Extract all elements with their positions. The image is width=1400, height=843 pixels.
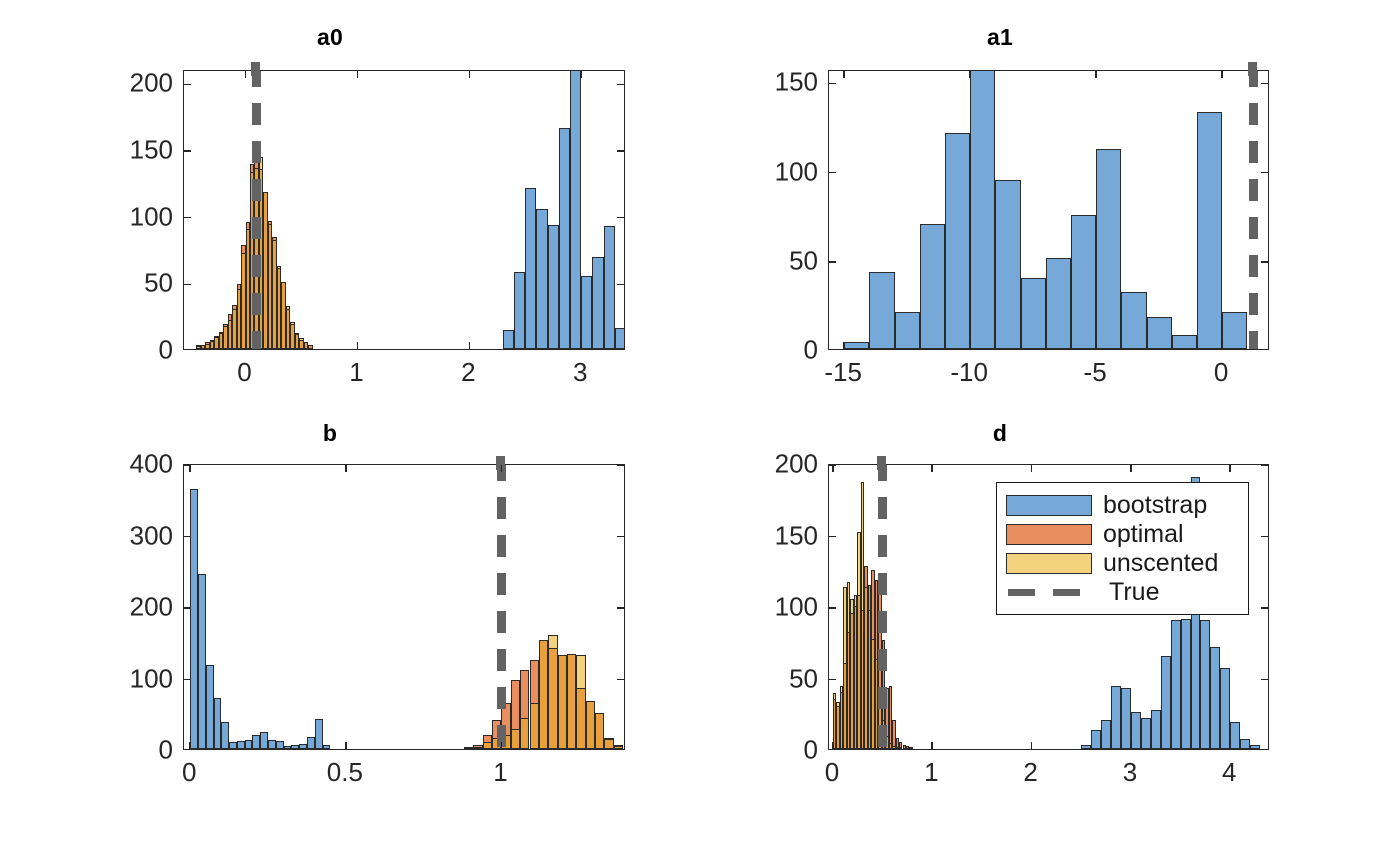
y-tick-mark xyxy=(617,284,624,286)
figure-canvas: a0 0501001502000123 a1 050100150-15-10-5… xyxy=(0,0,1400,843)
y-tick-mark xyxy=(184,150,191,152)
histogram-bar xyxy=(315,719,323,749)
histogram-bar xyxy=(1230,722,1240,749)
y-tick-label: 50 xyxy=(700,245,818,276)
histogram-bar xyxy=(221,722,229,749)
histogram-bar xyxy=(1096,149,1121,349)
x-tick-mark xyxy=(357,71,359,78)
x-tick-mark xyxy=(469,71,471,78)
x-tick-mark xyxy=(245,342,247,349)
y-tick-mark xyxy=(617,679,624,681)
x-tick-mark xyxy=(1229,742,1231,749)
histogram-bar xyxy=(503,330,514,349)
y-tick-mark xyxy=(829,83,836,85)
x-tick-mark xyxy=(1095,342,1097,349)
histogram-bar xyxy=(1141,718,1151,749)
y-tick-mark xyxy=(617,607,624,609)
subplot-b: b 010020030040000.51 xyxy=(0,420,660,800)
x-tick-mark xyxy=(1130,742,1132,749)
histogram-bar xyxy=(299,744,307,749)
histogram-bar xyxy=(1071,215,1096,349)
y-tick-mark xyxy=(184,607,191,609)
legend-label-bootstrap: bootstrap xyxy=(1103,493,1207,518)
y-tick-mark xyxy=(1261,464,1268,466)
histogram-bar-overlap xyxy=(567,654,576,749)
x-tick-label: 2 xyxy=(1023,757,1037,788)
y-tick-label: 300 xyxy=(0,520,173,551)
histogram-bar xyxy=(190,489,198,749)
x-tick-mark xyxy=(931,742,933,749)
x-tick-mark xyxy=(832,465,834,472)
histogram-bar-overlap xyxy=(548,648,557,749)
legend-label-optimal: optimal xyxy=(1103,522,1184,547)
legend-swatch-bootstrap xyxy=(1006,495,1092,516)
legend-item-true[interactable]: True xyxy=(1006,579,1238,606)
histogram-bar xyxy=(559,128,570,349)
x-tick-label: -10 xyxy=(950,357,988,388)
histogram-bar xyxy=(1121,292,1146,349)
y-tick-mark xyxy=(617,217,624,219)
histogram-bar xyxy=(869,272,894,349)
y-tick-label: 0 xyxy=(700,735,818,766)
x-tick-mark xyxy=(469,342,471,349)
legend-swatch-unscented xyxy=(1006,553,1092,574)
histogram-bar xyxy=(995,180,1020,349)
histogram-bar xyxy=(536,209,547,349)
x-tick-label: 0.5 xyxy=(327,757,363,788)
histogram-bar xyxy=(525,188,536,349)
histogram-bar-overlap xyxy=(899,747,902,749)
x-tick-label: 0 xyxy=(182,757,196,788)
histogram-bar xyxy=(1081,745,1091,749)
x-tick-mark xyxy=(580,342,582,349)
histogram-bar xyxy=(1172,335,1197,349)
histogram-bar xyxy=(1210,647,1220,749)
histogram-bar xyxy=(284,746,292,749)
histogram-bar xyxy=(945,133,970,349)
y-tick-label: 150 xyxy=(700,520,818,551)
histogram-bar xyxy=(1147,317,1172,349)
legend-label-true: True xyxy=(1103,580,1159,605)
true-value-line xyxy=(878,464,887,749)
subplot-a0-axes xyxy=(183,70,625,350)
x-tick-label: -5 xyxy=(1084,357,1107,388)
x-tick-mark xyxy=(832,742,834,749)
x-tick-mark xyxy=(1221,71,1223,78)
histogram-bar xyxy=(1091,730,1101,749)
x-tick-label: 1 xyxy=(349,357,363,388)
y-tick-label: 100 xyxy=(0,663,173,694)
histogram-bar-overlap xyxy=(614,746,623,749)
x-tick-mark xyxy=(1130,465,1132,472)
histogram-bar xyxy=(514,272,525,349)
histogram-bar xyxy=(548,225,559,349)
histogram-bar xyxy=(214,698,222,749)
subplot-d-title: d xyxy=(700,420,1300,447)
x-tick-label: -15 xyxy=(824,357,862,388)
y-tick-label: 150 xyxy=(0,135,173,166)
y-tick-label: 200 xyxy=(0,68,173,99)
x-tick-mark xyxy=(501,742,503,749)
y-tick-mark xyxy=(184,217,191,219)
legend-item-optimal[interactable]: optimal xyxy=(1006,521,1238,548)
y-tick-mark xyxy=(617,150,624,152)
histogram-bar xyxy=(1181,619,1191,749)
x-tick-mark xyxy=(245,71,247,78)
histogram-bar xyxy=(1240,739,1250,749)
x-tick-label: 0 xyxy=(1214,357,1228,388)
y-tick-mark xyxy=(617,84,624,86)
y-tick-mark xyxy=(829,536,836,538)
histogram-bar xyxy=(1200,620,1210,749)
histogram-bar xyxy=(909,747,912,749)
subplot-a1-title: a1 xyxy=(700,24,1300,51)
y-tick-mark xyxy=(184,84,191,86)
x-tick-label: 1 xyxy=(493,757,507,788)
subplot-b-axes xyxy=(183,464,625,750)
y-tick-label: 100 xyxy=(700,592,818,623)
y-tick-mark xyxy=(1261,607,1268,609)
y-tick-mark xyxy=(184,679,191,681)
histogram-bar xyxy=(1197,112,1222,349)
histogram-bar xyxy=(1151,710,1161,749)
y-tick-mark xyxy=(184,536,191,538)
y-tick-label: 200 xyxy=(700,449,818,480)
true-value-line xyxy=(252,70,261,349)
histogram-bar-overlap xyxy=(558,655,567,749)
histogram-bar-overlap xyxy=(539,640,548,749)
histogram-bar xyxy=(1021,278,1046,349)
x-tick-mark xyxy=(1229,465,1231,472)
histogram-bar xyxy=(592,257,603,349)
y-tick-label: 100 xyxy=(0,201,173,232)
y-tick-mark xyxy=(1261,536,1268,538)
y-tick-mark xyxy=(829,261,836,263)
subplot-b-title: b xyxy=(0,420,660,447)
histogram-bar xyxy=(1250,745,1260,749)
x-tick-mark xyxy=(1095,71,1097,78)
true-value-line xyxy=(1249,70,1258,349)
y-tick-mark xyxy=(1261,83,1268,85)
histogram-bar xyxy=(1171,620,1181,749)
y-tick-label: 400 xyxy=(0,449,173,480)
x-tick-mark xyxy=(931,465,933,472)
true-value-line-cap xyxy=(1248,62,1257,76)
histogram-bar xyxy=(844,342,869,349)
histogram-bar xyxy=(268,740,276,749)
histogram-bar xyxy=(1131,712,1141,749)
x-tick-label: 2 xyxy=(461,357,475,388)
y-tick-mark xyxy=(1261,679,1268,681)
histogram-bar xyxy=(198,574,206,749)
x-tick-mark xyxy=(1031,742,1033,749)
y-tick-mark xyxy=(617,536,624,538)
histogram-bar xyxy=(1121,688,1131,749)
y-tick-mark xyxy=(1261,172,1268,174)
histogram-bar xyxy=(920,224,945,349)
y-tick-mark xyxy=(829,679,836,681)
histogram-bar xyxy=(1101,720,1111,749)
y-tick-label: 0 xyxy=(700,335,818,366)
histogram-bar-overlap xyxy=(473,747,482,749)
histogram-bar-overlap xyxy=(308,345,312,349)
y-tick-mark xyxy=(184,284,191,286)
x-tick-label: 3 xyxy=(1123,757,1137,788)
subplot-a0: a0 0501001502000123 xyxy=(0,24,660,394)
x-tick-mark xyxy=(189,742,191,749)
histogram-bar xyxy=(570,70,581,349)
true-value-line-cap xyxy=(877,456,886,470)
x-tick-mark xyxy=(501,465,503,472)
x-tick-mark xyxy=(843,71,845,78)
x-tick-mark xyxy=(1221,342,1223,349)
histogram-bar xyxy=(276,741,284,749)
y-tick-mark xyxy=(829,607,836,609)
y-tick-label: 150 xyxy=(700,67,818,98)
subplot-a1: a1 050100150-15-10-50 xyxy=(700,24,1400,394)
x-tick-mark xyxy=(969,342,971,349)
y-tick-mark xyxy=(617,464,624,466)
legend-item-unscented[interactable]: unscented xyxy=(1006,550,1238,577)
histogram-bar xyxy=(604,226,615,349)
histogram-bar xyxy=(245,740,253,749)
true-value-line-cap xyxy=(251,62,260,76)
x-tick-mark xyxy=(345,742,347,749)
histogram-bar-overlap xyxy=(483,742,492,749)
x-tick-label: 4 xyxy=(1222,757,1236,788)
y-tick-label: 200 xyxy=(0,592,173,623)
x-tick-mark xyxy=(843,342,845,349)
histogram-bar xyxy=(307,737,315,749)
legend-dashed-line-icon xyxy=(1006,582,1092,603)
legend-label-unscented: unscented xyxy=(1103,551,1218,576)
histogram-bar xyxy=(260,732,268,749)
histogram-bar xyxy=(252,735,260,749)
histogram-bar xyxy=(1161,656,1171,749)
histogram-bar xyxy=(581,276,592,349)
histogram-bar xyxy=(615,328,625,349)
y-tick-label: 0 xyxy=(0,735,173,766)
histogram-bar xyxy=(1111,686,1121,749)
y-tick-label: 0 xyxy=(0,335,173,366)
histogram-bar-overlap xyxy=(604,739,613,749)
histogram-bar-overlap xyxy=(520,718,529,749)
x-tick-label: 3 xyxy=(573,357,587,388)
true-value-line xyxy=(497,464,506,749)
x-tick-label: 0 xyxy=(825,757,839,788)
x-tick-mark xyxy=(580,71,582,78)
histogram-bar xyxy=(229,742,237,749)
y-tick-label: 50 xyxy=(0,268,173,299)
x-tick-mark xyxy=(969,71,971,78)
subplot-a1-axes xyxy=(828,70,1269,350)
y-tick-label: 100 xyxy=(700,156,818,187)
histogram-bar xyxy=(291,745,299,749)
histogram-bar xyxy=(323,745,331,749)
histogram-bar-overlap xyxy=(595,713,604,749)
legend[interactable]: bootstrap optimal unscented True xyxy=(996,482,1249,615)
histogram-bar-overlap xyxy=(576,688,585,749)
histogram-bar xyxy=(970,70,995,349)
histogram-bar xyxy=(1220,668,1230,750)
subplot-d: d bootstrap optimal unscented True xyxy=(700,420,1400,800)
histogram-bar xyxy=(1046,258,1071,349)
x-tick-mark xyxy=(1031,465,1033,472)
x-tick-mark xyxy=(189,465,191,472)
histogram-bar-overlap xyxy=(586,701,595,749)
histogram-bar xyxy=(237,741,245,749)
histogram-bar xyxy=(1222,312,1247,349)
subplot-a0-title: a0 xyxy=(0,24,660,51)
histogram-bar-overlap xyxy=(530,703,539,749)
x-tick-mark xyxy=(357,342,359,349)
legend-item-bootstrap[interactable]: bootstrap xyxy=(1006,492,1238,519)
x-tick-mark xyxy=(345,465,347,472)
x-tick-label: 0 xyxy=(237,357,251,388)
histogram-bar-overlap xyxy=(464,747,473,749)
histogram-bar xyxy=(206,665,214,749)
y-tick-mark xyxy=(1261,261,1268,263)
histogram-bar-overlap xyxy=(511,729,520,749)
x-tick-label: 1 xyxy=(924,757,938,788)
legend-swatch-optimal xyxy=(1006,524,1092,545)
y-tick-label: 50 xyxy=(700,663,818,694)
histogram-bar xyxy=(895,312,920,349)
y-tick-mark xyxy=(829,172,836,174)
